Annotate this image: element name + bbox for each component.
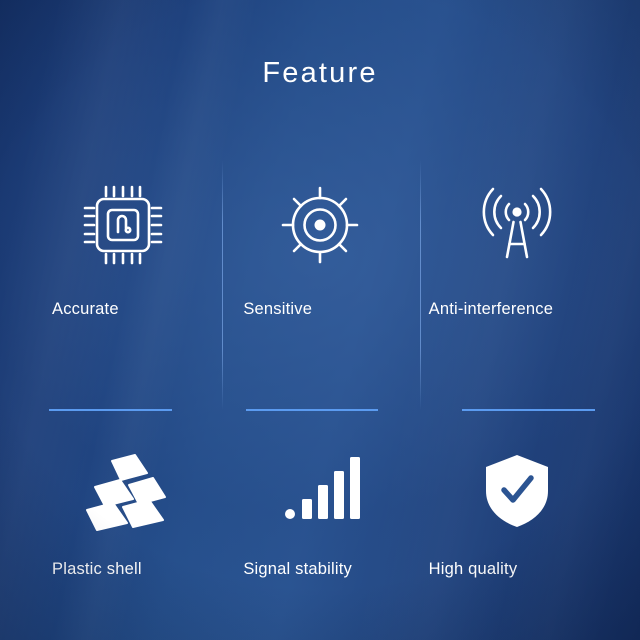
page-title: Feature bbox=[0, 57, 640, 90]
feature-label: Plastic shell bbox=[24, 560, 221, 579]
feature-item-sensitive: Sensitive bbox=[221, 150, 418, 420]
feature-item-high-quality: High quality bbox=[419, 420, 616, 640]
gold-bars-icon bbox=[24, 420, 221, 560]
feature-label: Signal stability bbox=[221, 560, 418, 579]
feature-item-accurate: Accurate bbox=[24, 150, 221, 420]
feature-label: Accurate bbox=[24, 300, 221, 319]
feature-label: High quality bbox=[419, 560, 616, 579]
feature-item-plastic-shell: Plastic shell bbox=[24, 420, 221, 640]
feature-label: Anti-interference bbox=[419, 300, 616, 319]
cpu-chip-icon bbox=[24, 150, 221, 300]
feature-poster: Feature bbox=[0, 0, 640, 640]
feature-grid: Accurate Sensitive bbox=[24, 150, 616, 640]
feature-label: Sensitive bbox=[221, 300, 418, 319]
signal-bars-icon bbox=[221, 420, 418, 560]
shield-check-icon bbox=[419, 420, 616, 560]
feature-item-anti-interference: Anti-interference bbox=[419, 150, 616, 420]
crosshair-target-icon bbox=[221, 150, 418, 300]
wireless-signal-icon bbox=[419, 150, 616, 300]
feature-item-signal-stability: Signal stability bbox=[221, 420, 418, 640]
